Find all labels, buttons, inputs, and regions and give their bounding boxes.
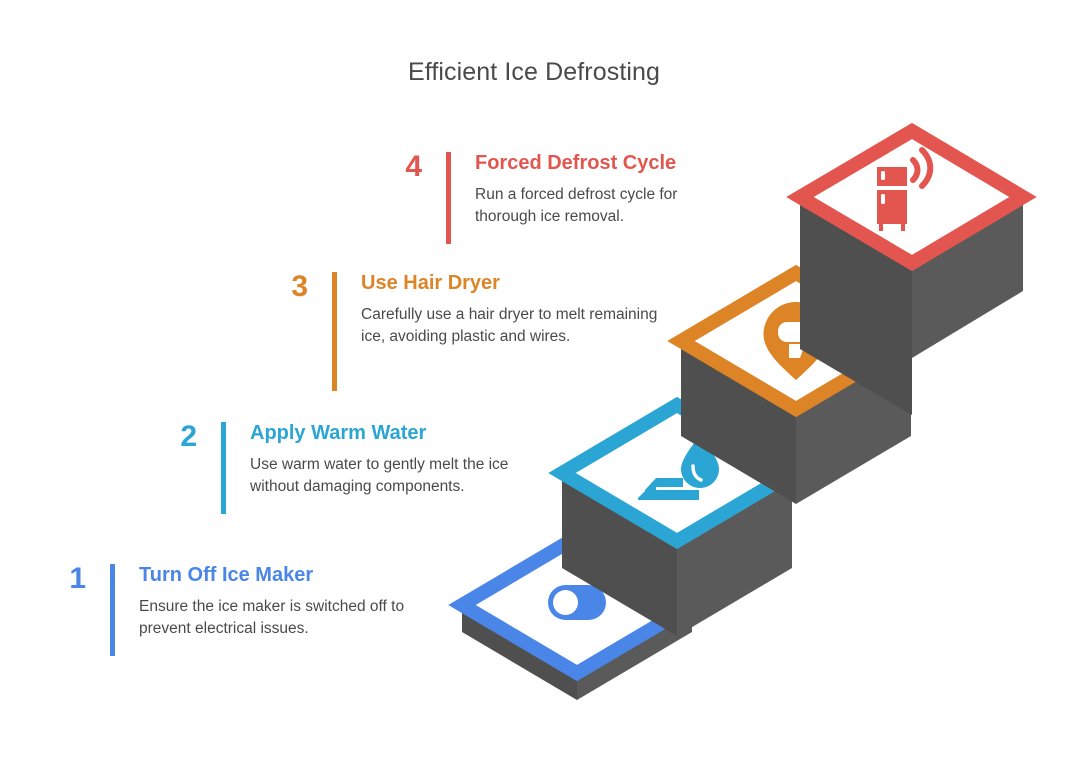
stair-2-left-face xyxy=(562,473,677,636)
step-4-accent-bar xyxy=(446,152,451,244)
step-2-description: Use warm water to gently melt the ice wi… xyxy=(250,454,560,499)
stair-4-left-face xyxy=(800,197,912,415)
step-1-description: Ensure the ice maker is switched off to … xyxy=(139,596,439,641)
step-1-accent-bar xyxy=(110,564,115,656)
step-4-title: Forced Defrost Cycle xyxy=(475,152,735,175)
step-2-accent-bar xyxy=(221,422,226,514)
step-3-description: Carefully use a hair dryer to melt remai… xyxy=(361,304,661,349)
stair-1-top-plate xyxy=(462,537,692,673)
stair-block-3 xyxy=(681,273,911,504)
stair-block-4 xyxy=(800,131,1023,415)
stair-4-right-face xyxy=(912,197,1023,358)
step-4-number: 4 xyxy=(370,152,422,182)
page-title: Efficient Ice Defrosting xyxy=(0,58,1068,87)
step-3-number: 3 xyxy=(256,272,308,302)
stair-3-right-face xyxy=(796,341,911,504)
toggle-switch-off-icon xyxy=(548,585,606,620)
refrigerator-signal-icon xyxy=(877,150,930,231)
step-2-title: Apply Warm Water xyxy=(250,422,560,445)
stair-3-left-face xyxy=(681,341,796,504)
step-3-accent-bar xyxy=(332,272,337,391)
stair-block-1 xyxy=(462,537,692,700)
step-1-title: Turn Off Ice Maker xyxy=(139,564,439,587)
stair-4-border xyxy=(800,131,1023,263)
hair-dryer-pin-icon xyxy=(764,302,829,380)
stair-1-border xyxy=(462,537,692,673)
step-1-body: Turn Off Ice Maker Ensure the ice maker … xyxy=(139,564,439,641)
stair-3-top-plate xyxy=(681,273,911,409)
step-4-description: Run a forced defrost cycle for thorough … xyxy=(475,184,735,229)
stair-2-top-plate xyxy=(562,405,792,541)
step-2-body: Apply Warm Water Use warm water to gentl… xyxy=(250,422,560,499)
stair-2-right-face xyxy=(677,473,792,636)
step-3-body: Use Hair Dryer Carefully use a hair drye… xyxy=(361,272,661,349)
step-2-number: 2 xyxy=(145,422,197,452)
water-drop-hand-icon xyxy=(638,436,719,500)
stair-2-border xyxy=(562,405,792,541)
step-1-number: 1 xyxy=(34,564,86,594)
stair-3-border xyxy=(681,273,911,409)
stair-1-right-face xyxy=(577,605,692,700)
stair-4-top-plate xyxy=(800,131,1023,263)
stair-1-left-face xyxy=(462,605,577,700)
step-3-title: Use Hair Dryer xyxy=(361,272,661,295)
isometric-staircase xyxy=(0,0,1068,762)
step-4-body: Forced Defrost Cycle Run a forced defros… xyxy=(475,152,735,229)
stair-block-2 xyxy=(562,405,792,636)
